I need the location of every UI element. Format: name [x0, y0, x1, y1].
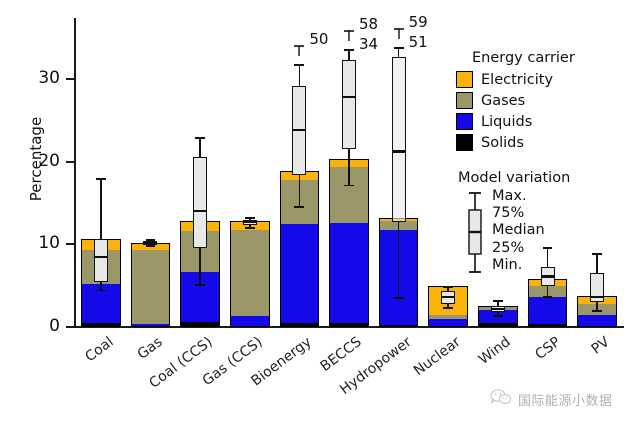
watermark-text: 国际能源小数据: [518, 390, 613, 409]
bar-segment-solids: [329, 323, 369, 327]
model-variation-label-median: Median: [492, 222, 545, 239]
boxplot-coal: [94, 178, 108, 291]
boxplot-min-cap: [493, 315, 503, 317]
bar-gas: [131, 243, 171, 327]
boxplot-box: [342, 60, 356, 149]
y-axis-tick-label: 0: [16, 316, 60, 336]
model-variation-label-min: Min.: [492, 257, 545, 274]
boxplot-lower-whisker: [398, 222, 400, 299]
bar-segment-liquids: [577, 315, 617, 327]
boxplot-median-line: [342, 96, 356, 98]
bar-segment-liquids: [280, 224, 320, 322]
wechat-icon: [490, 388, 512, 410]
legend-items: ElectricityGasesLiquidsSolids: [456, 69, 628, 153]
bar-segment-solids: [478, 323, 518, 327]
boxplot-gas: [143, 239, 157, 246]
x-axis-label-nuclear: Nuclear: [374, 334, 463, 407]
legend-item-electricity[interactable]: Electricity: [456, 69, 628, 90]
y-axis-tick-label: 10: [16, 233, 60, 253]
legend-energy-carrier: Energy carrier ElectricityGasesLiquidsSo…: [456, 50, 628, 153]
model-variation-label-max: Max.: [492, 188, 545, 205]
boxplot-box: [392, 57, 406, 222]
legend-model-variation: Model variation Max.75%Median25%Min.: [458, 170, 630, 280]
boxplot-median-line: [94, 256, 108, 258]
bar-gas-ccs: [230, 221, 270, 327]
boxplot-max-cap: [96, 178, 106, 180]
legend-label-electricity: Electricity: [481, 72, 553, 88]
bar-segment-liquids: [528, 297, 568, 323]
boxplot-min-cap: [195, 284, 205, 286]
bar-segment-solids: [528, 324, 568, 327]
boxplot-min-cap: [344, 185, 354, 187]
boxplot-max-annotation: 50: [309, 30, 328, 48]
x-axis-label-bioenergy: Bioenergy: [225, 334, 314, 407]
boxplot-median-line: [292, 129, 306, 131]
bar-segment-solids: [180, 322, 220, 327]
legend-title-energy-carrier: Energy carrier: [456, 50, 628, 66]
boxplot-upper-whisker: [299, 64, 301, 86]
legend-label-solids: Solids: [481, 135, 524, 151]
boxplot-min-cap: [245, 227, 255, 229]
bar-segment-solids: [81, 323, 121, 327]
boxplot-offscale-cap-icon: [344, 26, 354, 37]
boxplot-max-cap: [344, 49, 354, 51]
legend-item-gases[interactable]: Gases: [456, 90, 628, 111]
boxplot-min-cap: [96, 290, 106, 292]
boxplot-wind: [491, 300, 505, 317]
boxplot-min-cap: [294, 206, 304, 208]
boxplot-q75-annotation: 51: [409, 33, 428, 51]
boxplot-upper-whisker: [199, 137, 201, 157]
x-axis-label-coal: Coal: [27, 334, 116, 407]
bar-segment-liquids: [428, 319, 468, 327]
boxplot-lower-whisker: [348, 149, 350, 186]
boxplot-max-annotation: 58: [359, 15, 378, 33]
boxplot-max-cap: [294, 64, 304, 66]
boxplot-upper-whisker: [100, 178, 102, 239]
boxplot-median-line: [392, 150, 406, 152]
y-axis-tick: [66, 78, 74, 80]
boxplot-min-cap: [146, 245, 156, 247]
boxplot-box: [94, 239, 108, 281]
boxplot-offscale-cap-icon: [394, 24, 404, 35]
y-axis-line: [74, 18, 76, 326]
legend-title-model-variation: Model variation: [458, 170, 630, 186]
boxplot-glyph-icon: [466, 190, 484, 276]
boxplot-q75-annotation: 34: [359, 35, 378, 53]
boxplot-max-annotation: 59: [409, 13, 428, 31]
boxplot-max-cap: [394, 47, 404, 49]
boxplot-min-cap: [394, 297, 404, 299]
y-axis-tick-label: 30: [16, 68, 60, 88]
boxplot-median-line: [491, 308, 505, 310]
boxplot-coal-ccs: [193, 137, 207, 286]
boxplot-nuclear: [441, 286, 455, 308]
legend-swatch-liquids: [456, 113, 473, 130]
legend-swatch-electricity: [456, 71, 473, 88]
legend-item-liquids[interactable]: Liquids: [456, 111, 628, 132]
boxplot-median-line: [243, 221, 257, 223]
boxplot-gas-ccs: [243, 217, 257, 229]
boxplot-median-line: [193, 210, 207, 212]
legend-item-solids[interactable]: Solids: [456, 132, 628, 153]
bar-segment-gases: [428, 315, 468, 319]
boxplot-median-line: [590, 296, 604, 298]
boxplot-median-line: [143, 242, 157, 244]
watermark: 国际能源小数据: [490, 388, 613, 410]
boxplot-lower-whisker: [299, 175, 301, 208]
boxplot-offscale-cap-icon: [294, 41, 304, 52]
boxplot-max-cap: [195, 137, 205, 139]
bar-segment-liquids: [230, 316, 270, 327]
model-variation-labels: Max.75%Median25%Min.: [492, 188, 545, 274]
model-variation-label-25: 25%: [492, 240, 545, 257]
bar-segment-gases: [230, 230, 270, 316]
legend-label-liquids: Liquids: [481, 114, 532, 130]
legend-label-gases: Gases: [481, 93, 525, 109]
boxplot-hydropower: [392, 47, 406, 298]
bar-segment-liquids: [329, 223, 369, 323]
x-axis-label-gas: Gas: [77, 334, 166, 407]
boxplot-beccs: [342, 49, 356, 186]
y-axis-tick-label: 20: [16, 151, 60, 171]
y-axis-tick: [66, 243, 74, 245]
bar-segment-gases: [131, 250, 171, 324]
boxplot-max-cap: [443, 286, 453, 288]
boxplot-bioenergy: [292, 64, 306, 208]
bar-segment-solids: [379, 325, 419, 327]
boxplot-min-cap: [543, 296, 553, 298]
y-axis-tick: [66, 161, 74, 163]
legend-swatch-solids: [456, 134, 473, 151]
boxplot-box: [193, 157, 207, 249]
boxplot-median-line: [441, 296, 455, 298]
boxplot-min-cap: [592, 310, 602, 312]
boxplot-max-cap: [493, 300, 503, 302]
bar-segment-solids: [280, 323, 320, 327]
chart-canvas: Percentage 0102030 5058345951 CoalGasCoa…: [0, 0, 632, 442]
boxplot-lower-whisker: [199, 248, 201, 285]
bar-segment-liquids: [131, 324, 171, 327]
y-axis-tick: [66, 326, 74, 328]
model-variation-label-75: 75%: [492, 205, 545, 222]
boxplot-min-cap: [443, 307, 453, 309]
legend-swatch-gases: [456, 92, 473, 109]
